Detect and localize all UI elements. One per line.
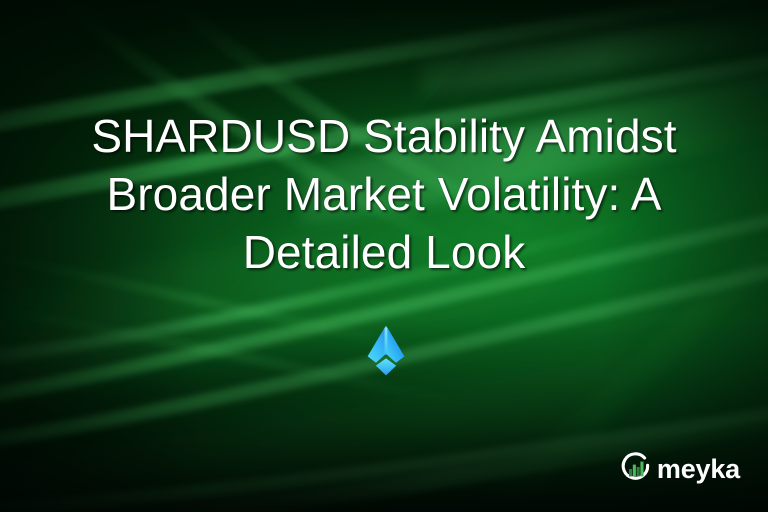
title-line-1: SHARDUSD Stability Amidst (28, 107, 740, 165)
title-line-2: Broader Market Volatility: A (28, 165, 740, 223)
share-card-canvas: SHARDUSD Stability Amidst Broader Market… (0, 0, 768, 512)
page-title: SHARDUSD Stability Amidst Broader Market… (0, 107, 768, 281)
meyka-logo-icon (619, 451, 653, 485)
brand-lockup: meyka (619, 451, 740, 485)
shard-token-logo-icon (366, 325, 406, 377)
brand-wordmark: meyka (657, 456, 740, 483)
title-line-3: Detailed Look (28, 223, 740, 281)
